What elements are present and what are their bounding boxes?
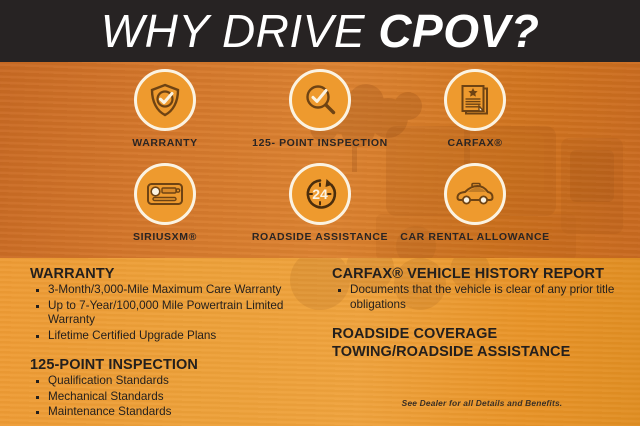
details-column-right: CARFAX® VEHICLE HISTORY REPORT Documents… [332, 266, 632, 361]
section-carfax-report: CARFAX® VEHICLE HISTORY REPORT Documents… [332, 266, 632, 312]
section-heading: CARFAX® VEHICLE HISTORY REPORT [332, 266, 632, 282]
car-side-icon [444, 163, 506, 225]
list-item: Up to 7-Year/100,000 Mile Powertrain Lim… [30, 299, 330, 328]
feature-inspection[interactable]: 125- POINT INSPECTION [235, 69, 405, 149]
magnifier-check-icon [289, 69, 351, 131]
page-title-light: WHY DRIVE [101, 5, 379, 57]
list-item: Qualification Standards [30, 374, 330, 389]
section-inspection: 125-POINT INSPECTION Qualification Stand… [30, 357, 330, 420]
clock-24-arrow-icon: 24 [289, 163, 351, 225]
feature-label: CAR RENTAL ALLOWANCE [390, 231, 560, 243]
section-heading-line1: ROADSIDE COVERAGE [332, 326, 632, 343]
shield-check-icon [134, 69, 196, 131]
certificate-document-icon [444, 69, 506, 131]
section-heading: WARRANTY [30, 266, 330, 282]
section-roadside-coverage: ROADSIDE COVERAGE TOWING/ROADSIDE ASSIST… [332, 326, 632, 360]
feature-label: ROADSIDE ASSISTANCE [235, 231, 405, 243]
warranty-bullet-list: 3-Month/3,000-Mile Maximum Care Warranty… [30, 283, 330, 343]
list-item: Maintenance Standards [30, 405, 330, 420]
section-heading: 125-POINT INSPECTION [30, 357, 330, 373]
feature-siriusxm[interactable]: SIRIUSXM® [80, 163, 250, 243]
details-panel: WARRANTY 3-Month/3,000-Mile Maximum Care… [0, 258, 640, 426]
feature-warranty[interactable]: WARRANTY [80, 69, 250, 149]
list-item: Mechanical Standards [30, 390, 330, 405]
section-warranty: WARRANTY 3-Month/3,000-Mile Maximum Care… [30, 266, 330, 343]
list-item: 3-Month/3,000-Mile Maximum Care Warranty [30, 283, 330, 298]
spacer [30, 344, 330, 357]
feature-carfax[interactable]: CARFAX® [390, 69, 560, 149]
spacer [332, 313, 632, 326]
disclaimer-text: See Dealer for all Details and Benefits. [332, 398, 632, 408]
feature-label: 125- POINT INSPECTION [235, 137, 405, 149]
svg-text:24: 24 [312, 186, 328, 202]
page-title: WHY DRIVE CPOV? [0, 2, 640, 60]
list-item: Lifetime Certified Upgrade Plans [30, 329, 330, 344]
header-band: WHY DRIVE CPOV? [0, 0, 640, 62]
section-heading-line2: TOWING/ROADSIDE ASSISTANCE [332, 344, 632, 361]
inspection-bullet-list: Qualification Standards Mechanical Stand… [30, 374, 330, 420]
feature-label: WARRANTY [80, 137, 250, 149]
feature-label: SIRIUSXM® [80, 231, 250, 243]
feature-car-rental[interactable]: CAR RENTAL ALLOWANCE [390, 163, 560, 243]
feature-icon-grid: WARRANTY 125- POINT INSPECTION [0, 62, 640, 258]
cpov-infographic: WHY DRIVE CPOV? WARRANTY 1 [0, 0, 640, 426]
feature-label: CARFAX® [390, 137, 560, 149]
car-stereo-icon [134, 163, 196, 225]
feature-roadside[interactable]: 24 ROADSIDE ASSISTANCE [235, 163, 405, 243]
page-title-bold: CPOV? [378, 5, 539, 57]
list-item: Documents that the vehicle is clear of a… [332, 283, 632, 312]
carfax-bullet-list: Documents that the vehicle is clear of a… [332, 283, 632, 312]
details-column-left: WARRANTY 3-Month/3,000-Mile Maximum Care… [30, 266, 330, 421]
